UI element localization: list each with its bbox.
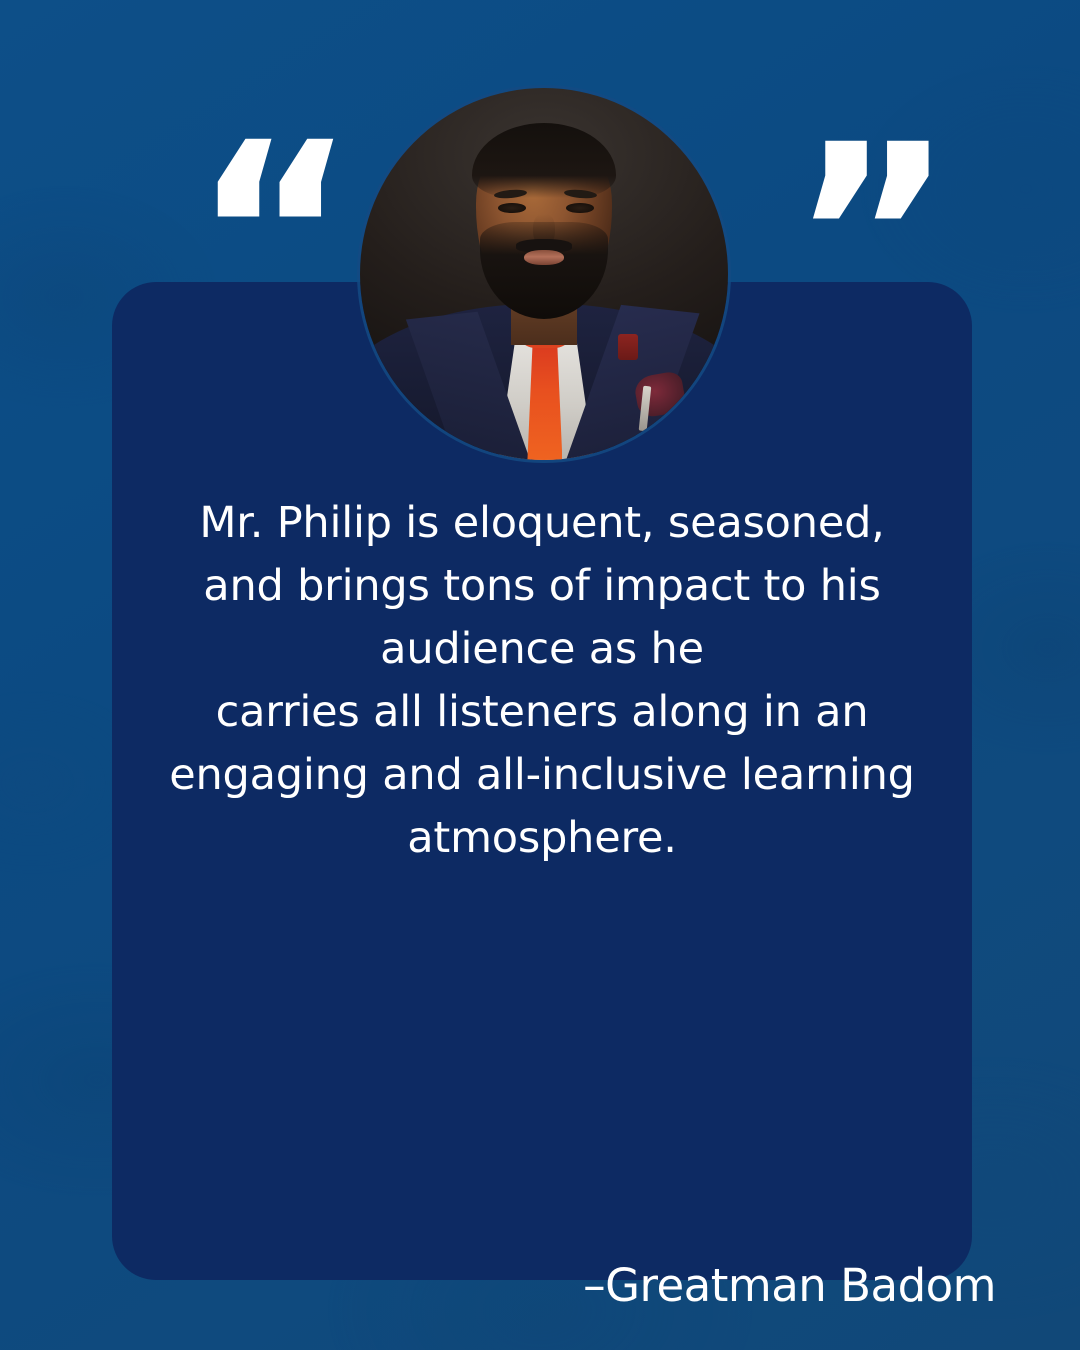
avatar-hair [472, 123, 616, 197]
avatar-necktie [527, 334, 562, 460]
quote-line: engaging and all-inclusive learning [130, 744, 954, 807]
avatar-mouth [524, 250, 564, 266]
quote-line: carries all listeners along in an [130, 681, 954, 744]
quote-line: Mr. Philip is eloquent, seasoned, [130, 492, 954, 555]
avatar-lapel-pin [618, 334, 638, 360]
quote-line: atmosphere. [130, 807, 954, 870]
avatar [360, 88, 728, 460]
close-quote-icon: ” [790, 112, 950, 362]
quote-line: and brings tons of impact to his [130, 555, 954, 618]
avatar-eye-left [498, 203, 526, 213]
quote-text: Mr. Philip is eloquent, seasoned, and br… [130, 492, 954, 870]
avatar-eye-right [566, 203, 594, 213]
open-quote-icon: “ [192, 110, 352, 360]
avatar-photo [360, 88, 728, 460]
quote-line: audience as he [130, 618, 954, 681]
attribution-name: –Greatman Badom [583, 1258, 996, 1314]
avatar-beard [480, 222, 609, 319]
